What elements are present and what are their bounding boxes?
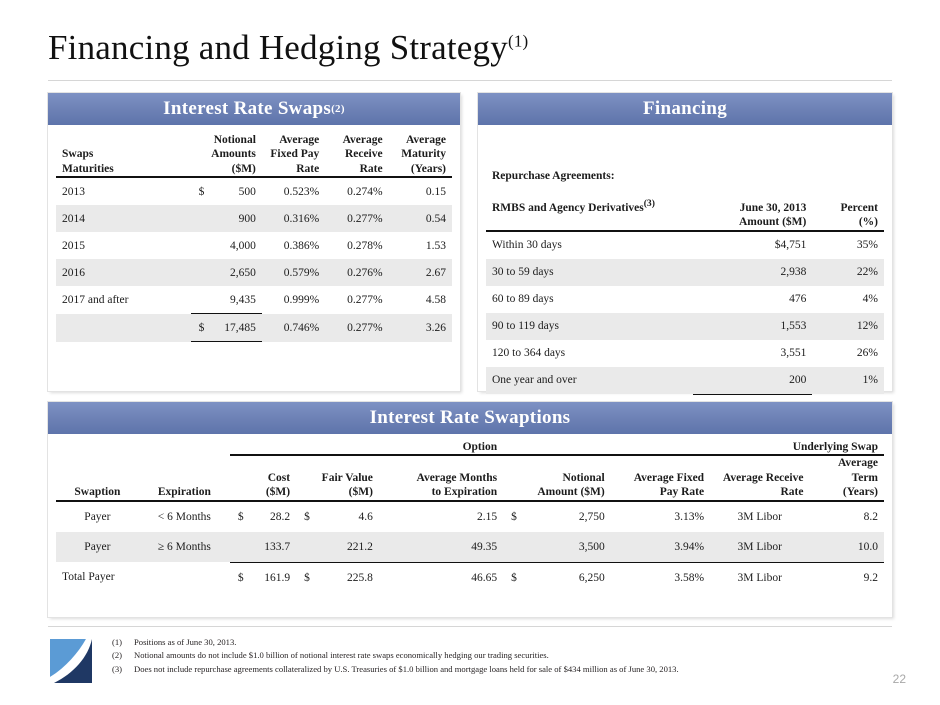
swaptions-notional: $2,750: [503, 501, 611, 532]
financing-period: 60 to 89 days: [486, 286, 693, 313]
swaps-notional: 9,435: [191, 286, 262, 314]
swaptions-total-notional: $6,250: [503, 562, 611, 593]
swaps-notional: 2,650: [191, 259, 262, 286]
swaps-receive: 0.276%: [325, 259, 388, 286]
swaptions-total-label: Total Payer: [56, 562, 139, 593]
swaptions-table-body: Payer < 6 Months $28.2 $4.6 2.15 $2,750 …: [56, 501, 884, 593]
financing-header-row: Repurchase Agreements: RMBS and Agency D…: [486, 133, 884, 231]
financing-percent: 1%: [812, 367, 884, 395]
swaptions-col-avg-months: Average Months to Expiration: [379, 455, 503, 500]
financing-col-percent: Percent (%): [812, 133, 884, 231]
swaptions-group-spacer-left: [56, 440, 139, 455]
swaps-receive: 0.277%: [325, 205, 388, 232]
table-row: 2013 $500 0.523% 0.274% 0.15: [56, 177, 452, 205]
financing-amount: 476: [693, 286, 812, 313]
financing-period: Within 30 days: [486, 231, 693, 259]
swaptions-total-cost: $161.9: [230, 562, 296, 593]
financing-percent: 22%: [812, 259, 884, 286]
financing-amount: 2,938: [693, 259, 812, 286]
financing-col-amount: June 30, 2013 Amount ($M): [693, 133, 812, 231]
swaps-maturity: 2015: [56, 232, 191, 259]
swaptions-group-header-row: Option Underlying Swap: [56, 440, 884, 455]
swaptions-total-avg-term: 9.2: [809, 562, 884, 593]
financing-table-body: Within 30 days $4,751 35% 30 to 59 days …: [486, 231, 884, 423]
financing-period: One year and over: [486, 367, 693, 395]
financing-label-footnote-marker: (3): [644, 198, 655, 209]
table-row: 2015 4,000 0.386% 0.278% 1.53: [56, 232, 452, 259]
swaptions-total-avg-months: 46.65: [379, 562, 503, 593]
swaptions-fair-value: 221.2: [296, 532, 379, 563]
swaptions-notional: 3,500: [503, 532, 611, 563]
swaps-receive: 0.278%: [325, 232, 388, 259]
swaptions-expiration: < 6 Months: [139, 501, 230, 532]
table-row: Within 30 days $4,751 35%: [486, 231, 884, 259]
swaps-table-body: 2013 $500 0.523% 0.274% 0.15 2014 900 0.…: [56, 177, 452, 342]
swaps-total-label: [56, 314, 191, 342]
footnotes: (1) Positions as of June 30, 2013. (2) N…: [112, 636, 872, 676]
footnote-text: Notional amounts do not include $1.0 bil…: [134, 649, 549, 662]
financing-col-label: Repurchase Agreements: RMBS and Agency D…: [486, 133, 693, 231]
footnote-marker: (1): [112, 636, 134, 649]
footer-divider: [48, 626, 892, 627]
swaptions-total-row: Total Payer $161.9 $225.8 46.65 $6,250 3…: [56, 562, 884, 593]
swaptions-avg-term: 8.2: [809, 501, 884, 532]
financing-amount: 3,551: [693, 340, 812, 367]
swaptions-cost: $28.2: [230, 501, 296, 532]
swaptions-col-swaption: Swaption: [56, 455, 139, 500]
swaptions-total-fair-value: $225.8: [296, 562, 379, 593]
swaps-maturity: 2014: [56, 205, 191, 232]
currency-symbol: $: [197, 322, 205, 334]
financing-amount: $4,751: [693, 231, 812, 259]
swaptions-avg-term: 10.0: [809, 532, 884, 563]
swaptions-col-receive: Average Receive Rate: [710, 455, 809, 500]
footnote-marker: (2): [112, 649, 134, 662]
swaps-avg-maturity: 2.67: [389, 259, 452, 286]
swaptions-swaption: Payer: [56, 532, 139, 563]
swaps-notional: 900: [191, 205, 262, 232]
table-row: 2017 and after 9,435 0.999% 0.277% 4.58: [56, 286, 452, 314]
swaps-fixed-pay: 0.523%: [262, 177, 325, 205]
swaptions-group-spacer-left2: [139, 440, 230, 455]
swaps-col-fixed-pay: Average Fixed Pay Rate: [262, 133, 325, 177]
swaptions-col-avg-term: Average Term (Years): [809, 455, 884, 500]
table-row: 30 to 59 days 2,938 22%: [486, 259, 884, 286]
swaps-total-fixed-pay: 0.746%: [262, 314, 325, 342]
table-row: 60 to 89 days 476 4%: [486, 286, 884, 313]
swaps-avg-maturity: 0.15: [389, 177, 452, 205]
swaps-maturity: 2013: [56, 177, 191, 205]
swaps-maturity: 2016: [56, 259, 191, 286]
swaps-table: Swaps Maturities Notional Amounts ($M) A…: [56, 133, 452, 342]
footnote-text: Positions as of June 30, 2013.: [134, 636, 236, 649]
swaps-fixed-pay: 0.386%: [262, 232, 325, 259]
swaptions-receive: 3M Libor: [710, 501, 809, 532]
company-logo: [48, 637, 94, 685]
swaptions-col-fixed-pay: Average Fixed Pay Rate: [611, 455, 710, 500]
swaptions-fair-value: $4.6: [296, 501, 379, 532]
page-title-text: Financing and Hedging Strategy: [48, 28, 508, 67]
swaps-total-row: $17,485 0.746% 0.277% 3.26: [56, 314, 452, 342]
swaps-col-avg-maturity: Average Maturity (Years): [389, 133, 452, 177]
financing-percent: 26%: [812, 340, 884, 367]
table-row: 90 to 119 days 1,553 12%: [486, 313, 884, 340]
page-number: 22: [893, 672, 906, 686]
financing-banner: Financing: [478, 93, 892, 125]
footnote-item: (1) Positions as of June 30, 2013.: [112, 636, 872, 649]
page-title: Financing and Hedging Strategy(1): [48, 28, 528, 68]
swaptions-total-receive: 3M Libor: [710, 562, 809, 593]
swaps-maturity: 2017 and after: [56, 286, 191, 314]
financing-percent: 12%: [812, 313, 884, 340]
swaps-fixed-pay: 0.579%: [262, 259, 325, 286]
swaps-header-row: Swaps Maturities Notional Amounts ($M) A…: [56, 133, 452, 177]
swaps-fixed-pay: 0.316%: [262, 205, 325, 232]
financing-table: Repurchase Agreements: RMBS and Agency D…: [486, 133, 884, 423]
swaps-total-receive: 0.277%: [325, 314, 388, 342]
table-row: 2016 2,650 0.579% 0.276% 2.67: [56, 259, 452, 286]
swaps-col-receive: Average Receive Rate: [325, 133, 388, 177]
table-row: 2014 900 0.316% 0.277% 0.54: [56, 205, 452, 232]
swaptions-group-underlying-swap: Underlying Swap: [503, 440, 884, 455]
footnote-text: Does not include repurchase agreements c…: [134, 663, 679, 676]
swaps-notional: 4,000: [191, 232, 262, 259]
swaptions-table: Option Underlying Swap Swaption Expirati…: [56, 440, 884, 593]
financing-percent: 35%: [812, 231, 884, 259]
title-divider: [48, 80, 892, 81]
currency-symbol: $: [302, 511, 310, 523]
financing-period: 90 to 119 days: [486, 313, 693, 340]
swaps-avg-maturity: 0.54: [389, 205, 452, 232]
swaps-avg-maturity: 1.53: [389, 232, 452, 259]
financing-amount: 200: [693, 367, 812, 395]
swaps-col-maturities: Swaps Maturities: [56, 133, 191, 177]
currency-symbol: $: [236, 572, 244, 584]
page-title-footnote-marker: (1): [508, 31, 528, 50]
swaptions-avg-months: 49.35: [379, 532, 503, 563]
swaptions-banner-title: Interest Rate Swaptions: [370, 407, 571, 429]
swaps-receive: 0.277%: [325, 286, 388, 314]
swaps-total-notional: $17,485: [191, 314, 262, 342]
swaptions-col-cost: Cost ($M): [230, 455, 296, 500]
swaptions-avg-months: 2.15: [379, 501, 503, 532]
swaptions-banner: Interest Rate Swaptions: [48, 402, 892, 434]
swaptions-col-fair-value: Fair Value ($M): [296, 455, 379, 500]
financing-period: 30 to 59 days: [486, 259, 693, 286]
swaps-fixed-pay: 0.999%: [262, 286, 325, 314]
table-row: One year and over 200 1%: [486, 367, 884, 395]
swaps-notional: $500: [191, 177, 262, 205]
swaptions-group-option: Option: [230, 440, 503, 455]
swaps-banner-title: Interest Rate Swaps: [163, 98, 331, 120]
financing-panel: Financing Repurchase Agreements: RMBS an…: [478, 93, 892, 391]
table-row: Payer < 6 Months $28.2 $4.6 2.15 $2,750 …: [56, 501, 884, 532]
table-row: 120 to 364 days 3,551 26%: [486, 340, 884, 367]
table-row: Payer ≥ 6 Months 133.7 221.2 49.35 3,500…: [56, 532, 884, 563]
swaps-col-notional: Notional Amounts ($M): [191, 133, 262, 177]
financing-banner-title: Financing: [643, 98, 727, 120]
swaptions-total-fixed-pay: 3.58%: [611, 562, 710, 593]
swaptions-col-expiration: Expiration: [139, 455, 230, 500]
footnote-marker: (3): [112, 663, 134, 676]
financing-period: 120 to 364 days: [486, 340, 693, 367]
financing-amount: 1,553: [693, 313, 812, 340]
swaps-avg-maturity: 4.58: [389, 286, 452, 314]
swaptions-swaption: Payer: [56, 501, 139, 532]
footnote-item: (2) Notional amounts do not include $1.0…: [112, 649, 872, 662]
interest-rate-swaps-panel: Interest Rate Swaps(2) Swaps Maturities …: [48, 93, 460, 391]
financing-col-label-line1: Repurchase Agreements:: [492, 169, 687, 183]
currency-symbol: $: [509, 511, 517, 523]
swaps-total-avg-maturity: 3.26: [389, 314, 452, 342]
swaps-receive: 0.274%: [325, 177, 388, 205]
financing-percent: 4%: [812, 286, 884, 313]
swaptions-col-notional: Notional Amount ($M): [503, 455, 611, 500]
swaps-banner: Interest Rate Swaps(2): [48, 93, 460, 125]
footnote-item: (3) Does not include repurchase agreemen…: [112, 663, 872, 676]
currency-symbol: $: [509, 572, 517, 584]
swaptions-expiration: ≥ 6 Months: [139, 532, 230, 563]
swaptions-fixed-pay: 3.94%: [611, 532, 710, 563]
swaptions-cost: 133.7: [230, 532, 296, 563]
swaptions-header-row: Swaption Expiration Cost ($M) Fair Value…: [56, 455, 884, 500]
currency-symbol: $: [236, 511, 244, 523]
financing-col-label-line2: RMBS and Agency Derivatives(3): [492, 198, 687, 215]
swaptions-receive: 3M Libor: [710, 532, 809, 563]
currency-symbol: $: [302, 572, 310, 584]
interest-rate-swaptions-panel: Interest Rate Swaptions Option Underlyin…: [48, 402, 892, 617]
swaptions-total-expiration: [139, 562, 230, 593]
currency-symbol: $: [197, 186, 205, 198]
swaptions-fixed-pay: 3.13%: [611, 501, 710, 532]
